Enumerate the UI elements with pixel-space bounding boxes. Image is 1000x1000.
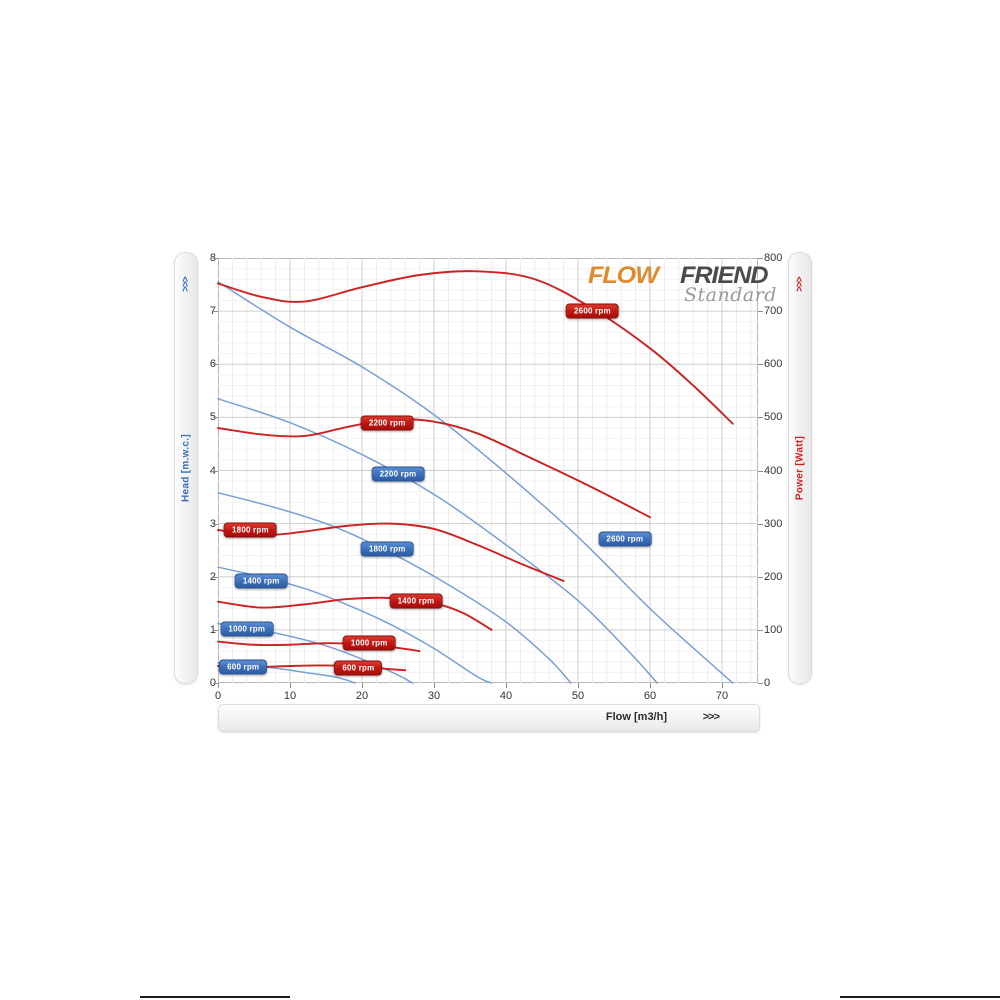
curve-label-blue-1800-rpm: 1800 rpm bbox=[361, 542, 414, 557]
curve-label-red-2200-rpm: 2200 rpm bbox=[361, 415, 414, 430]
flow-axis-tick-mark bbox=[506, 683, 507, 688]
power-axis-tick-mark bbox=[758, 577, 763, 578]
flow-axis-title: Flow [m3/h] bbox=[606, 711, 667, 723]
head-axis-tick-label: 7 bbox=[176, 305, 216, 317]
head-axis-tick-label: 4 bbox=[176, 465, 216, 477]
power-axis-tick-mark bbox=[758, 630, 763, 631]
curve-head-2600-rpm bbox=[218, 282, 733, 683]
curve-layer bbox=[218, 258, 758, 683]
curve-label-blue-1000-rpm: 1000 rpm bbox=[220, 621, 273, 636]
logo-tagline-text: Standard bbox=[684, 284, 777, 306]
flow-axis-tick-label: 50 bbox=[572, 690, 584, 702]
head-axis-tick-label: 3 bbox=[176, 518, 216, 530]
flow-axis-tick-mark bbox=[290, 683, 291, 688]
curve-label-red-1400-rpm: 1400 rpm bbox=[390, 593, 443, 608]
logo-flow-text: FLOW bbox=[588, 262, 658, 290]
head-axis-tick-mark bbox=[213, 630, 218, 631]
power-axis-tick-label: 600 bbox=[764, 358, 804, 370]
screenshot-page: >>> Head [m.w.c.] >>> Power [Watt] Flow … bbox=[0, 0, 1000, 1000]
head-axis-tick-label: 5 bbox=[176, 411, 216, 423]
flow-axis-tick-mark bbox=[650, 683, 651, 688]
power-axis-tick-label: 300 bbox=[764, 518, 804, 530]
curve-power-2200-rpm bbox=[218, 419, 650, 517]
power-axis-tick-mark bbox=[758, 471, 763, 472]
power-axis-tick-label: 400 bbox=[764, 465, 804, 477]
curve-label-blue-1400-rpm: 1400 rpm bbox=[235, 574, 288, 589]
power-axis-tick-mark bbox=[758, 258, 763, 259]
head-axis-tick-label: 1 bbox=[176, 624, 216, 636]
power-axis-tick-mark bbox=[758, 364, 763, 365]
head-axis-tick-label: 8 bbox=[176, 252, 216, 264]
power-axis-tick-label: 200 bbox=[764, 571, 804, 583]
power-axis-tick-mark bbox=[758, 311, 763, 312]
power-axis-tick-mark bbox=[758, 683, 763, 684]
head-axis-tick-mark bbox=[213, 471, 218, 472]
flow-axis-tick-label: 70 bbox=[716, 690, 728, 702]
flow-axis-tick-mark bbox=[722, 683, 723, 688]
flow-axis-tick-label: 60 bbox=[644, 690, 656, 702]
curve-label-red-1000-rpm: 1000 rpm bbox=[343, 636, 396, 651]
head-axis-chevron-icon: >>> bbox=[181, 277, 192, 292]
power-axis-tick-label: 100 bbox=[764, 624, 804, 636]
curve-label-blue-600-rpm: 600 rpm bbox=[219, 660, 267, 675]
power-axis-tick-label: 0 bbox=[764, 677, 804, 689]
power-axis-chevron-icon: >>> bbox=[795, 277, 806, 292]
curve-label-blue-2600-rpm: 2600 rpm bbox=[598, 531, 651, 546]
flow-axis-tick-label: 40 bbox=[500, 690, 512, 702]
curve-label-blue-2200-rpm: 2200 rpm bbox=[372, 467, 425, 482]
flow-axis-tick-label: 10 bbox=[284, 690, 296, 702]
page-edge-artifact-left bbox=[140, 996, 290, 998]
head-axis-tick-mark bbox=[213, 524, 218, 525]
head-axis-tick-label: 2 bbox=[176, 571, 216, 583]
page-edge-artifact-right bbox=[840, 996, 1000, 998]
flow-axis-tick-mark bbox=[578, 683, 579, 688]
flow-axis-tick-mark bbox=[218, 683, 219, 688]
curve-label-red-600-rpm: 600 rpm bbox=[334, 661, 382, 676]
head-axis-tick-mark bbox=[213, 417, 218, 418]
flow-axis-title-bar: Flow [m3/h] >>> bbox=[218, 704, 760, 732]
plot-region: 0123456780100200300400500600700800010203… bbox=[218, 258, 758, 683]
flow-axis-tick-label: 20 bbox=[356, 690, 368, 702]
flow-axis-tick-label: 30 bbox=[428, 690, 440, 702]
flow-axis-tick-label: 0 bbox=[215, 690, 221, 702]
head-axis-tick-label: 6 bbox=[176, 358, 216, 370]
curve-head-2200-rpm bbox=[218, 399, 657, 683]
curve-label-red-1800-rpm: 1800 rpm bbox=[224, 523, 277, 538]
head-axis-tick-mark bbox=[213, 311, 218, 312]
power-axis-tick-label: 500 bbox=[764, 411, 804, 423]
flowfriend-logo: FLOW FRIEND Standard bbox=[588, 262, 788, 308]
flow-axis-tick-mark bbox=[362, 683, 363, 688]
head-axis-tick-label: 0 bbox=[176, 677, 216, 689]
power-axis-tick-mark bbox=[758, 417, 763, 418]
power-axis-tick-mark bbox=[758, 524, 763, 525]
flow-axis-chevron-icon: >>> bbox=[703, 711, 719, 723]
flow-axis-tick-mark bbox=[434, 683, 435, 688]
pump-curve-chart: >>> Head [m.w.c.] >>> Power [Watt] Flow … bbox=[160, 240, 820, 740]
head-axis-tick-mark bbox=[213, 258, 218, 259]
head-axis-tick-mark bbox=[213, 577, 218, 578]
head-axis-tick-mark bbox=[213, 364, 218, 365]
